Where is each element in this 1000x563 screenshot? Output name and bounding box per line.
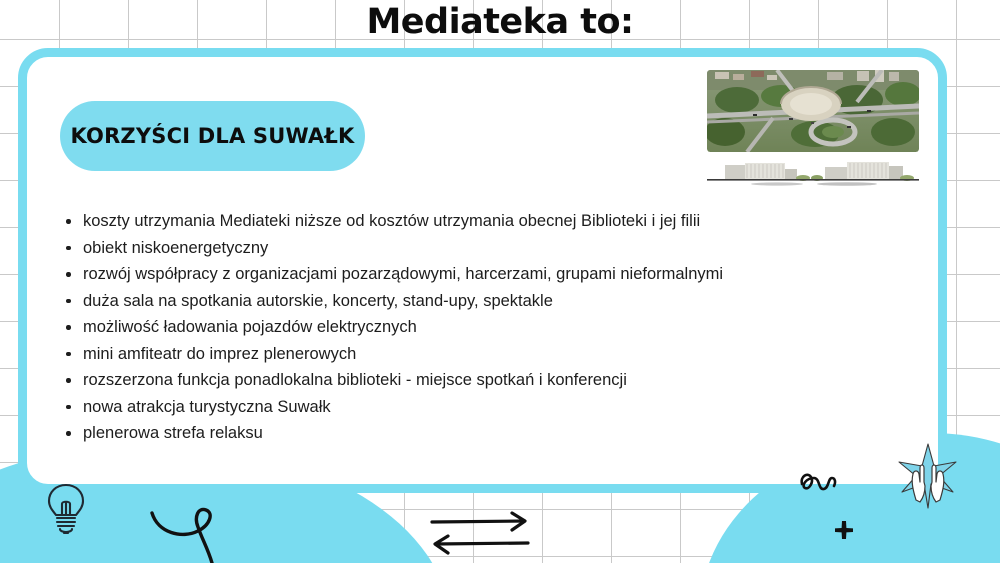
list-item: obiekt niskoenergetyczny — [63, 239, 863, 257]
page-title: Mediateka to: — [0, 2, 1000, 42]
list-item: mini amfiteatr do imprez plenerowych — [63, 345, 863, 363]
content-card: KORZYŚCI DLA SUWAŁK — [18, 48, 947, 493]
section-heading-label: KORZYŚCI DLA SUWAŁK — [70, 124, 354, 148]
building-render-elevation — [707, 157, 919, 192]
double-arrow-doodle — [428, 510, 532, 556]
section-heading-pill: KORZYŚCI DLA SUWAŁK — [60, 101, 365, 171]
list-item: koszty utrzymania Mediateki niższe od ko… — [63, 212, 863, 230]
slide-canvas: Mediateka to: KORZYŚCI DLA SUWAŁK — [0, 0, 1000, 563]
aerial-photo-roundabout — [707, 70, 919, 152]
loop-curve-doodle — [148, 505, 234, 563]
media-block — [707, 70, 919, 192]
plus-mark-doodle — [833, 519, 855, 541]
list-item: plenerowa strefa relaksu — [63, 424, 863, 442]
list-item: rozszerzona funkcja ponadlokalna bibliot… — [63, 371, 863, 389]
list-item: nowa atrakcja turystyczna Suwałk — [63, 398, 863, 416]
hands-star-doodle — [889, 442, 967, 516]
benefits-list: koszty utrzymania Mediateki niższe od ko… — [63, 212, 863, 451]
list-item: rozwój współpracy z organizacjami pozarz… — [63, 265, 863, 283]
list-item: możliwość ładowania pojazdów elektryczny… — [63, 318, 863, 336]
list-item: duża sala na spotkania autorskie, koncer… — [63, 292, 863, 310]
